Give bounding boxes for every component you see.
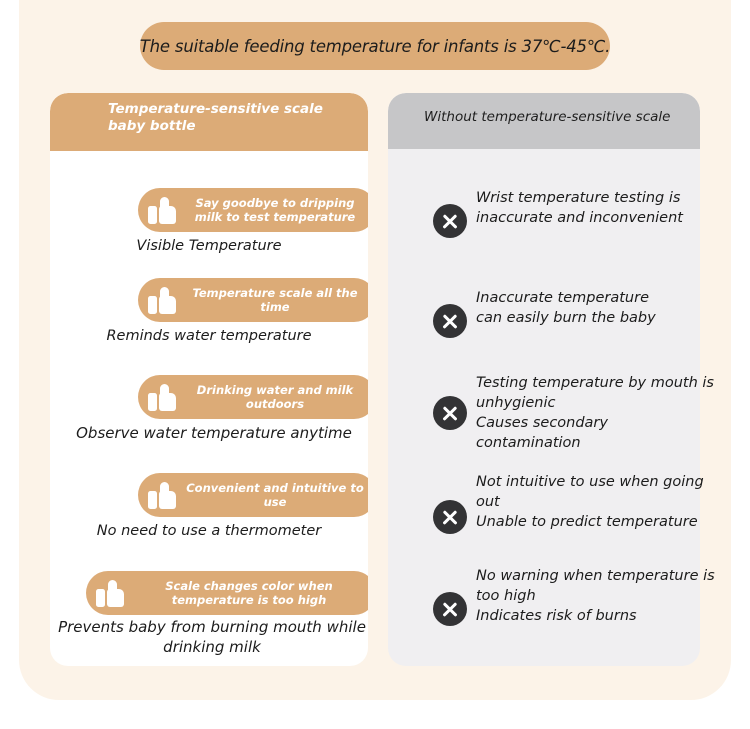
x-circle-icon bbox=[433, 592, 467, 626]
left-feature-1-pill: Say goodbye to dripping milk to test tem… bbox=[138, 188, 368, 232]
right-drawback-2-text: Inaccurate temperature can easily burn t… bbox=[476, 288, 656, 328]
right-drawback-4-line2: Unable to predict temperature bbox=[476, 512, 712, 532]
left-feature-5-pill: Scale changes color when temperature is … bbox=[86, 571, 368, 615]
thumbs-up-icon bbox=[148, 196, 178, 224]
thumbs-up-icon bbox=[148, 383, 178, 411]
left-feature-2-caption: Reminds water temperature bbox=[50, 326, 368, 346]
left-feature-3-caption: Observe water temperature anytime bbox=[50, 423, 368, 443]
infographic-canvas: The suitable feeding temperature for inf… bbox=[0, 0, 750, 729]
x-circle-icon bbox=[433, 304, 467, 338]
banner-text: The suitable feeding temperature for inf… bbox=[140, 37, 610, 56]
thumbs-up-icon bbox=[148, 481, 178, 509]
thumbs-up-icon bbox=[96, 579, 126, 607]
left-panel: Temperature-sensitive scale baby bottle … bbox=[50, 93, 368, 666]
right-drawback-4-text: Not intuitive to use when going out Unab… bbox=[476, 472, 712, 532]
right-drawback-3-line2: Causes secondary contamination bbox=[476, 413, 716, 453]
left-feature-4-caption: No need to use a thermometer bbox=[50, 521, 368, 541]
left-feature-5-caption: Prevents baby from burning mouth while d… bbox=[50, 617, 368, 657]
header-banner: The suitable feeding temperature for inf… bbox=[140, 22, 610, 70]
left-feature-3-pill: Drinking water and milk outdoors bbox=[138, 375, 368, 419]
right-drawback-5-line2: Indicates risk of burns bbox=[476, 606, 726, 626]
right-drawback-3-text: Testing temperature by mouth is unhygien… bbox=[476, 373, 716, 453]
x-circle-icon bbox=[433, 500, 467, 534]
left-feature-4-pill: Convenient and intuitive to use bbox=[138, 473, 368, 517]
left-panel-title: Temperature-sensitive scale baby bottle bbox=[108, 101, 358, 135]
right-panel-title: Without temperature-sensitive scale bbox=[424, 109, 694, 126]
left-feature-4-pill-text: Convenient and intuitive to use bbox=[182, 481, 368, 509]
left-feature-2-pill: Temperature scale all the time bbox=[138, 278, 368, 322]
right-drawback-1-line1: Wrist temperature testing is inaccurate … bbox=[476, 188, 701, 228]
left-feature-1-pill-text: Say goodbye to dripping milk to test tem… bbox=[182, 196, 368, 224]
x-circle-icon bbox=[433, 204, 467, 238]
right-drawback-1-text: Wrist temperature testing is inaccurate … bbox=[476, 188, 701, 228]
left-feature-1-caption: Visible Temperature bbox=[50, 236, 368, 256]
right-drawback-4-line1: Not intuitive to use when going out bbox=[476, 472, 712, 512]
x-circle-icon bbox=[433, 396, 467, 430]
left-feature-3-pill-text: Drinking water and milk outdoors bbox=[182, 383, 368, 411]
left-feature-2-pill-text: Temperature scale all the time bbox=[182, 286, 368, 314]
right-drawback-2-line1: Inaccurate temperature can easily burn t… bbox=[476, 288, 656, 328]
left-feature-5-pill-text: Scale changes color when temperature is … bbox=[130, 579, 368, 607]
right-drawback-5-text: No warning when temperature is too high … bbox=[476, 566, 726, 626]
right-drawback-5-line1: No warning when temperature is too high bbox=[476, 566, 726, 606]
thumbs-up-icon bbox=[148, 286, 178, 314]
right-drawback-3-line1: Testing temperature by mouth is unhygien… bbox=[476, 373, 716, 413]
